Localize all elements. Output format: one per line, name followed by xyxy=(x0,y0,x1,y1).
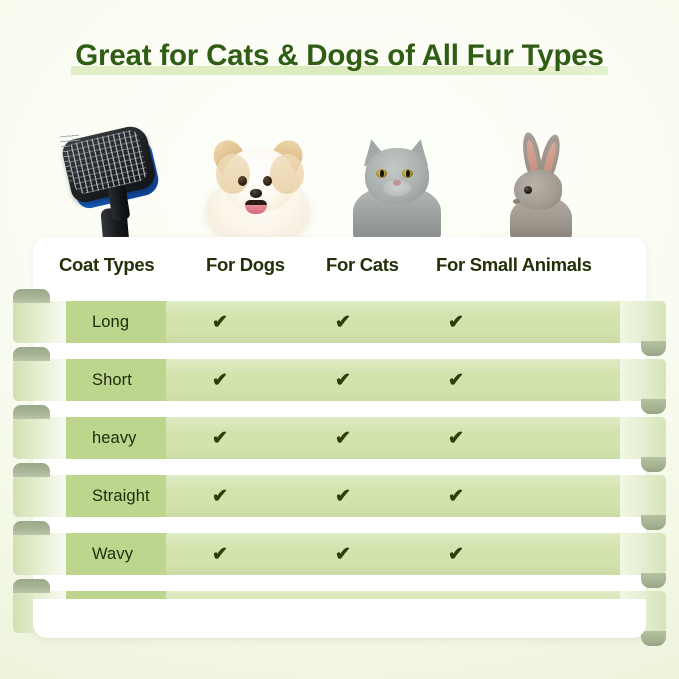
dog-cheek-right xyxy=(270,154,304,194)
rabbit-nose xyxy=(513,199,520,204)
ribbon-body: Short ✔ ✔ ✔ xyxy=(66,359,620,401)
ribbon-tail-left xyxy=(13,417,66,459)
column-header-for-dogs: For Dogs xyxy=(186,254,320,276)
ribbon-tail-right xyxy=(620,475,666,517)
cell-check-dogs: ✔ xyxy=(166,359,300,401)
dog-mouth xyxy=(245,200,267,214)
ribbon-fold-left xyxy=(13,405,50,419)
ribbon-fold-left xyxy=(13,521,50,535)
ribbon-tail-right xyxy=(620,301,666,343)
cell-check-dogs: ✔ xyxy=(166,301,300,343)
ribbon-band: Long ✔ ✔ ✔ xyxy=(13,301,666,343)
ribbon-tail-right xyxy=(620,533,666,575)
ribbon-fold-right xyxy=(641,341,666,356)
ribbon-body: Long ✔ ✔ ✔ xyxy=(66,301,620,343)
cell-check-cats: ✔ xyxy=(300,359,416,401)
dog-cheek-left xyxy=(216,154,250,194)
cell-coat-type: Short xyxy=(66,359,166,401)
table-row: Short ✔ ✔ ✔ xyxy=(33,351,646,409)
table-body: Long ✔ ✔ ✔ Short ✔ ✔ xyxy=(33,293,646,641)
rabbit-eye xyxy=(524,186,532,194)
ribbon-band: Straight ✔ ✔ ✔ xyxy=(13,475,666,517)
cell-coat-type: heavy xyxy=(66,417,166,459)
cat-pupil-right xyxy=(406,170,410,177)
ribbon-fold-left xyxy=(13,347,50,361)
table-row: Wavy ✔ ✔ ✔ xyxy=(33,525,646,583)
dog-nose xyxy=(250,189,262,198)
ribbon-tail-left xyxy=(13,359,66,401)
page-title: Great for Cats & Dogs of All Fur Types xyxy=(75,38,603,74)
ribbon-tail-left xyxy=(13,533,66,575)
ribbon-band: heavy ✔ ✔ ✔ xyxy=(13,417,666,459)
card-footer-pad xyxy=(33,599,646,638)
ribbon-body: heavy ✔ ✔ ✔ xyxy=(66,417,620,459)
cell-coat-type: Wavy xyxy=(66,533,166,575)
ribbon-tail-right xyxy=(620,359,666,401)
cell-check-cats: ✔ xyxy=(300,301,416,343)
cell-check-small: ✔ xyxy=(416,359,620,401)
ribbon-fold-right xyxy=(641,631,666,646)
ribbon-fold-left xyxy=(13,463,50,477)
cat-nose xyxy=(393,180,401,186)
dog-eye-left xyxy=(238,176,247,186)
cell-check-dogs: ✔ xyxy=(166,533,300,575)
ribbon-band: Short ✔ ✔ ✔ xyxy=(13,359,666,401)
cell-check-small: ✔ xyxy=(416,533,620,575)
table-row: heavy ✔ ✔ ✔ xyxy=(33,409,646,467)
dog-eye-right xyxy=(263,176,272,186)
rabbit-image xyxy=(498,124,590,244)
ribbon-tail-left xyxy=(13,475,66,517)
cell-check-small: ✔ xyxy=(416,475,620,517)
pomeranian-dog-image xyxy=(200,130,318,242)
ribbon-body: Straight ✔ ✔ ✔ xyxy=(66,475,620,517)
ribbon-fold-right xyxy=(641,573,666,588)
product-infographic-page: Great for Cats & Dogs of All Fur Types xyxy=(0,0,679,679)
column-header-coat-types: Coat Types xyxy=(33,254,186,276)
title-section: Great for Cats & Dogs of All Fur Types xyxy=(0,38,679,77)
ribbon-tail-right xyxy=(620,417,666,459)
cell-check-dogs: ✔ xyxy=(166,417,300,459)
ribbon-band: Wavy ✔ ✔ ✔ xyxy=(13,533,666,575)
ribbon-fold-right xyxy=(641,399,666,414)
ribbon-body: Wavy ✔ ✔ ✔ xyxy=(66,533,620,575)
column-header-for-small-animals: For Small Animals xyxy=(436,254,646,276)
title-inner: Great for Cats & Dogs of All Fur Types xyxy=(69,38,609,77)
cell-coat-type: Straight xyxy=(66,475,166,517)
cell-check-dogs: ✔ xyxy=(166,475,300,517)
cell-check-cats: ✔ xyxy=(300,475,416,517)
cell-check-cats: ✔ xyxy=(300,417,416,459)
cat-pupil-left xyxy=(380,170,384,177)
slicker-brush-image xyxy=(58,118,186,244)
ribbon-fold-right xyxy=(641,515,666,530)
ribbon-fold-left xyxy=(13,579,50,593)
cell-check-cats: ✔ xyxy=(300,533,416,575)
table-row: Long ✔ ✔ ✔ xyxy=(33,293,646,351)
ribbon-tail-left xyxy=(13,301,66,343)
hero-image-strip xyxy=(0,112,679,244)
coat-type-table-card: Coat Types For Dogs For Cats For Small A… xyxy=(33,237,646,638)
cell-coat-type: Long xyxy=(66,301,166,343)
ribbon-fold-right xyxy=(641,457,666,472)
grey-cat-image xyxy=(345,126,449,244)
column-header-for-cats: For Cats xyxy=(320,254,436,276)
cell-check-small: ✔ xyxy=(416,417,620,459)
table-row: Straight ✔ ✔ ✔ xyxy=(33,467,646,525)
table-header-row: Coat Types For Dogs For Cats For Small A… xyxy=(33,237,646,293)
rabbit-head xyxy=(514,170,562,210)
cell-check-small: ✔ xyxy=(416,301,620,343)
